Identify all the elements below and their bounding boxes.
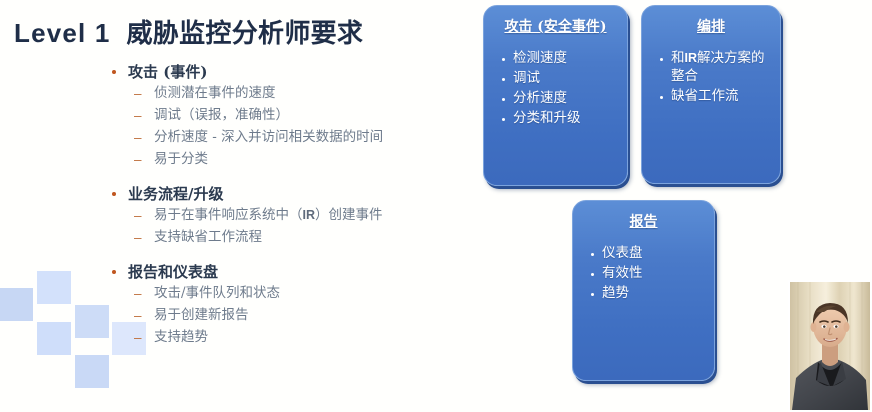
capability-box-item-label: 分析速度 bbox=[513, 90, 567, 106]
outline-heading-label: 报告和仪表盘 bbox=[128, 263, 218, 281]
bullet-dot-icon bbox=[112, 270, 116, 274]
page-title-prefix: Level 1 bbox=[14, 18, 119, 48]
capability-box-item: 和IR解决方案的整合 bbox=[658, 50, 770, 86]
capability-box-item: 缺省工作流 bbox=[658, 88, 770, 106]
capability-box-item: 分析速度 bbox=[500, 90, 617, 108]
capability-box-title: 编排 bbox=[642, 16, 780, 36]
outline-sub-item-label: 易于分类 bbox=[154, 151, 208, 167]
capability-box-item-label: 缺省工作流 bbox=[671, 88, 739, 104]
outline-heading: 业务流程/升级 bbox=[108, 184, 468, 205]
capability-box-item: 检测速度 bbox=[500, 50, 617, 68]
capability-box-item: 有效性 bbox=[589, 265, 704, 283]
dash-marker-icon: – bbox=[134, 105, 142, 127]
page-title: Level 1 威胁监控分析师要求 bbox=[14, 13, 363, 50]
capability-box-item-label: 有效性 bbox=[602, 265, 643, 281]
portrait-photo bbox=[788, 280, 872, 412]
portrait-photo-image bbox=[790, 282, 870, 410]
outline-heading: 报告和仪表盘 bbox=[108, 262, 468, 283]
dash-marker-icon: – bbox=[134, 305, 142, 327]
outline-heading-label: 业务流程/升级 bbox=[128, 185, 223, 203]
capability-box-attack[interactable]: 攻击 (安全事件) 检测速度调试分析速度分类和升级 bbox=[483, 5, 628, 186]
outline-heading: 攻击 (事件) bbox=[108, 62, 468, 83]
outline-sub-item: –侦测潜在事件的速度 bbox=[108, 83, 468, 105]
capability-box-orchestration[interactable]: 编排 和IR解决方案的整合缺省工作流 bbox=[641, 5, 781, 184]
outline-sub-item: –易于创建新报告 bbox=[108, 305, 468, 327]
outline-sub-item-label: 侦测潜在事件的速度 bbox=[154, 85, 276, 101]
outline-sub-item: –支持趋势 bbox=[108, 327, 468, 349]
dash-marker-icon: – bbox=[134, 227, 142, 249]
outline-group: 攻击 (事件)–侦测潜在事件的速度–调试（误报，准确性）–分析速度 - 深入并访… bbox=[108, 62, 468, 171]
dash-marker-icon: – bbox=[134, 327, 142, 349]
outline-heading-label: 攻击 (事件) bbox=[128, 63, 207, 81]
capability-box-title: 报告 bbox=[573, 211, 714, 231]
outline-sub-item: –攻击/事件队列和状态 bbox=[108, 283, 468, 305]
capability-box-items: 检测速度调试分析速度分类和升级 bbox=[484, 50, 627, 128]
outline-sub-item: –调试（误报，准确性） bbox=[108, 105, 468, 127]
outline-sub-item: –分析速度 - 深入并访问相关数据的时间 bbox=[108, 127, 468, 149]
decorative-square bbox=[37, 271, 71, 304]
capability-box-items: 和IR解决方案的整合缺省工作流 bbox=[642, 50, 780, 106]
capability-box-item-label: 仪表盘 bbox=[602, 245, 643, 261]
dash-marker-icon: – bbox=[134, 83, 142, 105]
outline-group: 报告和仪表盘–攻击/事件队列和状态–易于创建新报告–支持趋势 bbox=[108, 262, 468, 349]
decorative-square bbox=[37, 322, 71, 355]
decorative-square bbox=[75, 355, 109, 388]
decorative-square bbox=[0, 288, 33, 321]
outline-sub-item: –易于分类 bbox=[108, 149, 468, 171]
capability-box-title: 攻击 (安全事件) bbox=[484, 16, 627, 36]
slide-canvas: Level 1 威胁监控分析师要求 攻击 (事件)–侦测潜在事件的速度–调试（误… bbox=[0, 0, 872, 412]
outline-sub-item-label: 攻击/事件队列和状态 bbox=[154, 285, 280, 301]
capability-box-item: 调试 bbox=[500, 70, 617, 88]
outline-sub-item-label: 易于在事件响应系统中（ bbox=[154, 207, 303, 223]
dash-marker-icon: – bbox=[134, 283, 142, 305]
capability-box-item-label: 检测速度 bbox=[513, 50, 567, 66]
outline-sub-item-label: 调试（误报，准确性） bbox=[154, 107, 289, 123]
dash-marker-icon: – bbox=[134, 127, 142, 149]
outline-sub-item: –支持缺省工作流程 bbox=[108, 227, 468, 249]
outline-sub-item-label: 分析速度 - 深入并访问相关数据的时间 bbox=[154, 129, 383, 145]
capability-box-item-label: 分类和升级 bbox=[513, 110, 581, 126]
outline-sub-item-label: 支持缺省工作流程 bbox=[154, 229, 262, 245]
outline-sub-item-label: 支持趋势 bbox=[154, 329, 208, 345]
capability-box-item-label: 调试 bbox=[513, 70, 540, 86]
outline-sub-item-label: 易于创建新报告 bbox=[154, 307, 249, 323]
outline-sub-item: –易于在事件响应系统中（IR）创建事件 bbox=[108, 205, 468, 227]
capability-box-item: 仪表盘 bbox=[589, 245, 704, 263]
outline-list: 攻击 (事件)–侦测潜在事件的速度–调试（误报，准确性）–分析速度 - 深入并访… bbox=[108, 62, 468, 349]
dash-marker-icon: – bbox=[134, 205, 142, 227]
outline-sub-item-label-tail: ）创建事件 bbox=[315, 207, 383, 223]
capability-box-item: 趋势 bbox=[589, 285, 704, 303]
capability-box-item-label: 趋势 bbox=[602, 285, 629, 301]
capability-box-item: 分类和升级 bbox=[500, 110, 617, 128]
capability-box-reporting[interactable]: 报告 仪表盘有效性趋势 bbox=[572, 200, 715, 381]
capability-box-items: 仪表盘有效性趋势 bbox=[573, 245, 714, 303]
bullet-dot-icon bbox=[112, 192, 116, 196]
outline-sub-item-emphasis: IR bbox=[303, 208, 316, 222]
bullet-dot-icon bbox=[112, 70, 116, 74]
capability-box-item-label: 和 bbox=[671, 50, 685, 66]
dash-marker-icon: – bbox=[134, 149, 142, 171]
capability-box-item-emphasis: IR bbox=[685, 51, 698, 65]
outline-group: 业务流程/升级–易于在事件响应系统中（IR）创建事件–支持缺省工作流程 bbox=[108, 184, 468, 249]
decorative-square bbox=[75, 305, 109, 338]
page-title-main: 威胁监控分析师要求 bbox=[127, 18, 364, 48]
